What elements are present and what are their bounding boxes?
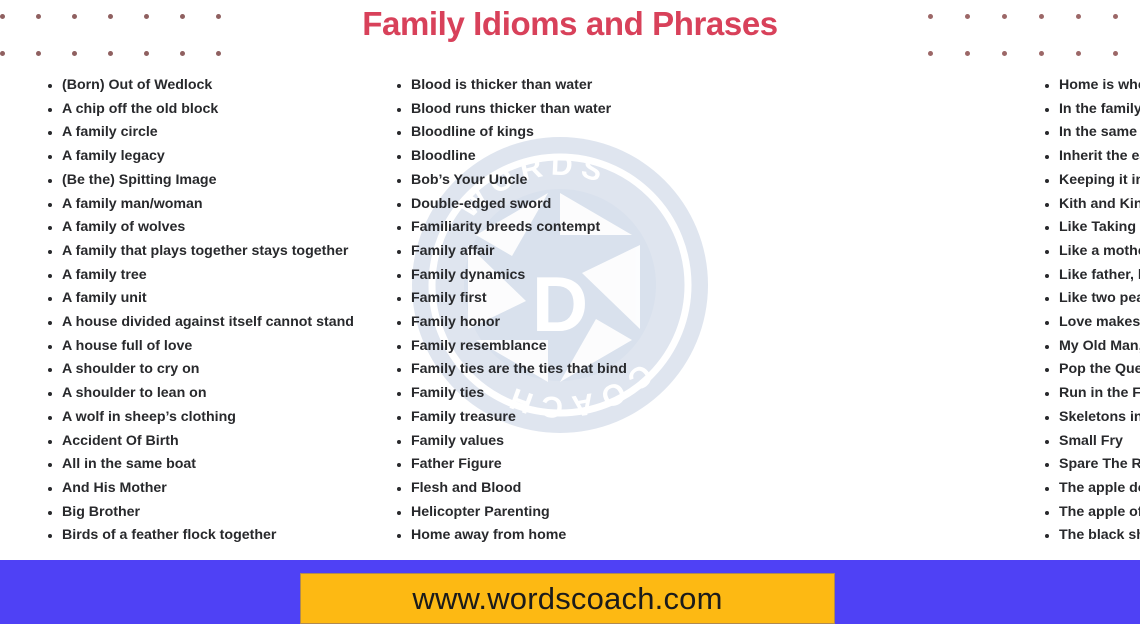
list-item: Like a mother hen — [1045, 240, 1140, 264]
list-item: In the same boat — [1045, 121, 1140, 145]
page-title: Family Idioms and Phrases — [0, 2, 1140, 46]
decorative-dot — [965, 51, 970, 56]
list-item: Skeletons in the closet — [1045, 406, 1140, 430]
website-url[interactable]: www.wordscoach.com — [300, 573, 835, 624]
poster-page: Family Idioms and Phrases D WORDS — [0, 0, 1140, 624]
list-item: Kith and Kin — [1045, 193, 1140, 217]
list-item: Like Taking Candy from a Baby — [1045, 216, 1140, 240]
list-item: In the family way — [1045, 98, 1140, 122]
list-item: The black sheep of the family — [1045, 524, 1140, 548]
idiom-columns: (Born) Out of WedlockA chip off the old … — [0, 74, 1140, 554]
decorative-dot — [1113, 51, 1118, 56]
list-item: Like two peas in a pod — [1045, 287, 1140, 311]
decorative-dot — [36, 51, 41, 56]
decorative-dot — [216, 51, 221, 56]
decorative-dot — [72, 51, 77, 56]
decorative-dot — [144, 51, 149, 56]
decorative-dot — [1002, 51, 1007, 56]
list-item: The apple of my eye — [1045, 501, 1140, 525]
list-item: Inherit the earth — [1045, 145, 1140, 169]
decorative-dot — [1039, 51, 1044, 56]
list-item: Small Fry — [1045, 430, 1140, 454]
idiom-column-3: Home is where the heart isIn the family … — [252, 74, 1140, 554]
footer-bar: www.wordscoach.com — [0, 560, 1140, 624]
list-item: Home is where the heart is — [1045, 74, 1140, 98]
list-item: Run in the Family — [1045, 382, 1140, 406]
decorative-dot — [0, 51, 5, 56]
decorative-dot — [928, 51, 933, 56]
list-item: Spare The Rod And Spoil The Child — [1045, 453, 1140, 477]
list-item: Like father, like son — [1045, 264, 1140, 288]
list-item: My Old Man, My Old Lady — [1045, 335, 1140, 359]
idiom-list-3: Home is where the heart isIn the family … — [1027, 74, 1140, 548]
decorative-dot — [108, 51, 113, 56]
decorative-dot — [1076, 51, 1081, 56]
list-item: Pop the Question — [1045, 358, 1140, 382]
list-item: Love makes a family — [1045, 311, 1140, 335]
decorative-dot — [180, 51, 185, 56]
list-item: Keeping it in the family — [1045, 169, 1140, 193]
list-item: The apple doesn’t fall far from the tree — [1045, 477, 1140, 501]
